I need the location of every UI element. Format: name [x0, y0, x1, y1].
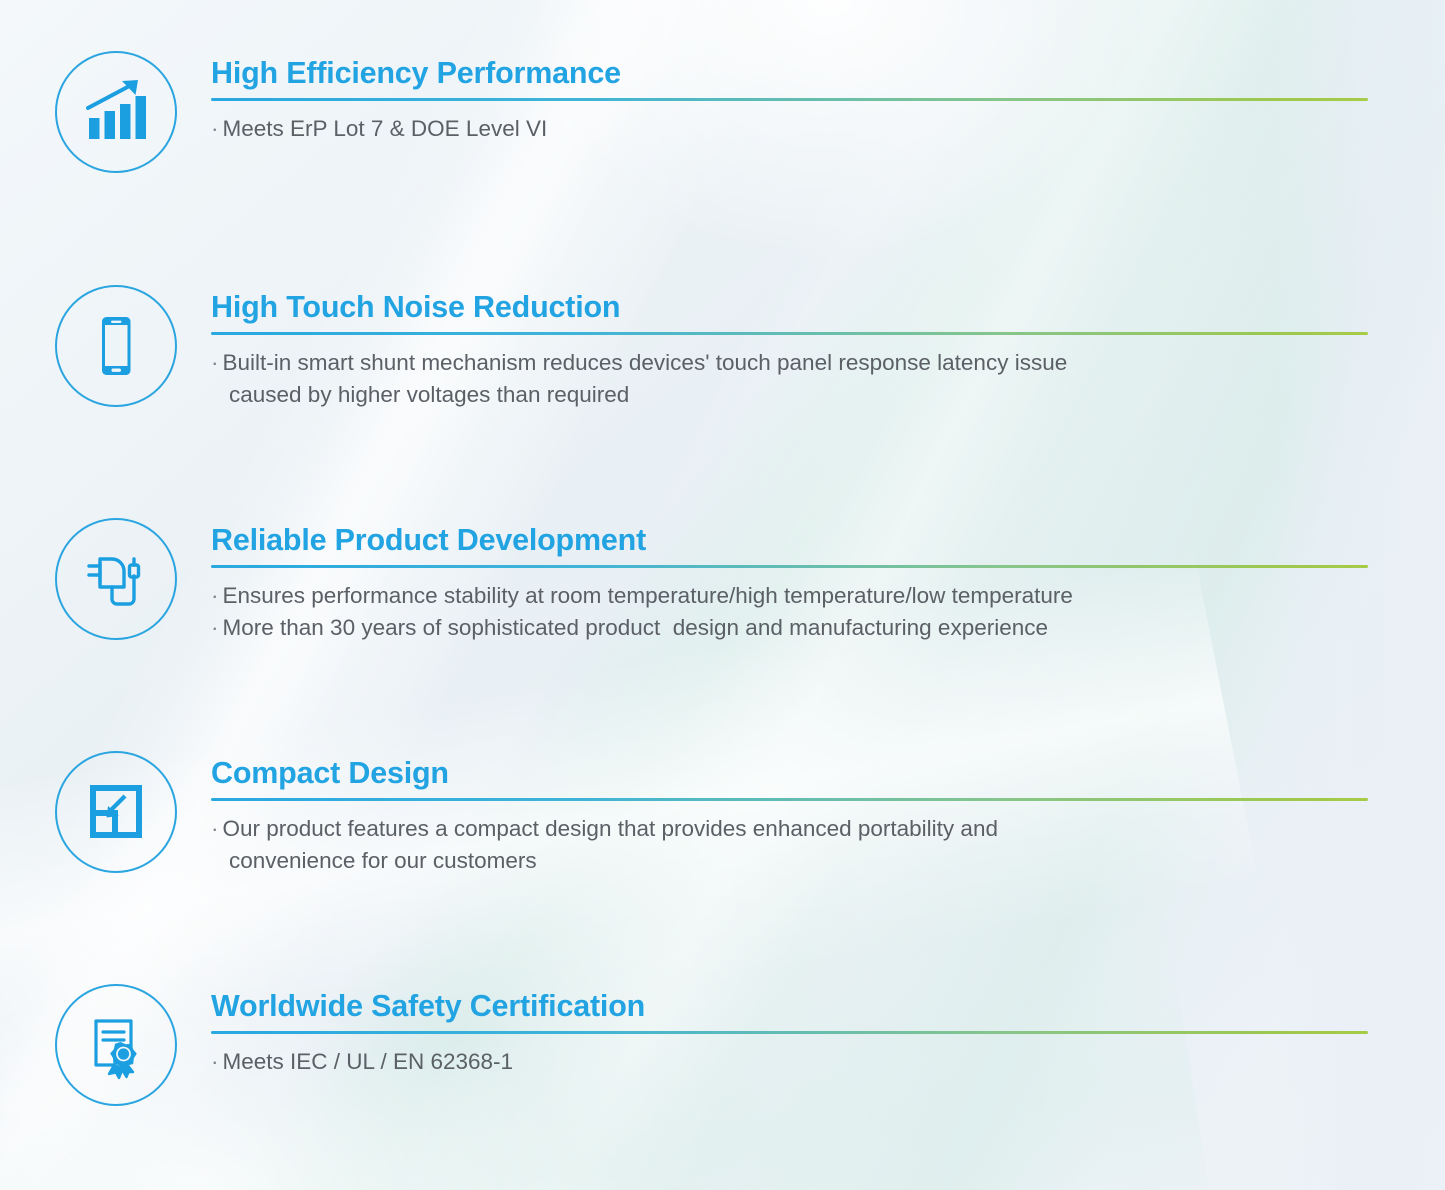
- bullet-glyph: ·: [211, 350, 219, 375]
- icon-circle-border: [55, 518, 177, 640]
- feature-icon-wrapper: [55, 984, 177, 1106]
- bar-chart-growth-icon: [79, 75, 153, 149]
- icon-circle-border: [55, 51, 177, 173]
- feature-body: ·Built-in smart shunt mechanism reduces …: [211, 347, 1371, 411]
- icon-circle-border: [55, 984, 177, 1106]
- feature-bullet-text: Meets ErP Lot 7 & DOE Level VI: [223, 116, 548, 141]
- power-adapter-icon: [79, 542, 153, 616]
- bullet-glyph: ·: [211, 583, 219, 608]
- certificate-award-icon: [79, 1008, 153, 1082]
- feature-bullet-text: Built-in smart shunt mechanism reduces d…: [223, 350, 1068, 375]
- feature-bullet-line: ·Meets ErP Lot 7 & DOE Level VI: [211, 113, 1371, 145]
- feature-bullet-text: More than 30 years of sophisticated prod…: [223, 615, 1049, 640]
- feature-icon-wrapper: [55, 518, 177, 640]
- feature-title: Compact Design: [211, 757, 1371, 789]
- bullet-glyph: ·: [211, 816, 219, 841]
- feature-divider-rule: [211, 1031, 1368, 1034]
- feature-title: High Efficiency Performance: [211, 57, 1371, 89]
- feature-divider-rule: [211, 798, 1368, 801]
- smartphone-icon: [79, 309, 153, 383]
- feature-text-column: High Efficiency Performance ·Meets ErP L…: [211, 57, 1371, 145]
- feature-bullet-line-continuation: caused by higher voltages than required: [211, 379, 1371, 411]
- feature-bullet-line: ·Our product features a compact design t…: [211, 813, 1371, 845]
- feature-bullet-line: ·Built-in smart shunt mechanism reduces …: [211, 347, 1371, 379]
- feature-highlights-page: High Efficiency Performance ·Meets ErP L…: [0, 0, 1445, 1190]
- feature-title: Worldwide Safety Certification: [211, 990, 1371, 1022]
- feature-bullet-line: ·Ensures performance stability at room t…: [211, 580, 1371, 612]
- feature-text-column: Compact Design ·Our product features a c…: [211, 757, 1371, 877]
- feature-divider-rule: [211, 565, 1368, 568]
- feature-icon-wrapper: [55, 285, 177, 407]
- feature-bullet-line: ·Meets IEC / UL / EN 62368-1: [211, 1046, 1371, 1078]
- bullet-glyph: ·: [211, 1049, 219, 1074]
- bullet-glyph: ·: [211, 116, 219, 141]
- feature-body: ·Meets ErP Lot 7 & DOE Level VI: [211, 113, 1371, 145]
- feature-body: ·Ensures performance stability at room t…: [211, 580, 1371, 644]
- feature-bullet-text: Our product features a compact design th…: [223, 816, 998, 841]
- feature-title: Reliable Product Development: [211, 524, 1371, 556]
- feature-bullet-text: Ensures performance stability at room te…: [223, 583, 1073, 608]
- feature-bullet-line-continuation: convenience for our customers: [211, 845, 1371, 877]
- feature-icon-wrapper: [55, 751, 177, 873]
- icon-circle-border: [55, 751, 177, 873]
- compact-resize-icon: [79, 775, 153, 849]
- feature-bullet-text: caused by higher voltages than required: [229, 382, 629, 407]
- feature-text-column: Worldwide Safety Certification ·Meets IE…: [211, 990, 1371, 1078]
- feature-bullet-line: ·More than 30 years of sophisticated pro…: [211, 612, 1371, 644]
- bullet-glyph: ·: [211, 615, 219, 640]
- feature-bullet-text: Meets IEC / UL / EN 62368-1: [223, 1049, 514, 1074]
- feature-text-column: Reliable Product Development ·Ensures pe…: [211, 524, 1371, 644]
- feature-divider-rule: [211, 332, 1368, 335]
- feature-text-column: High Touch Noise Reduction ·Built-in sma…: [211, 291, 1371, 411]
- icon-circle-border: [55, 285, 177, 407]
- feature-body: ·Our product features a compact design t…: [211, 813, 1371, 877]
- feature-title: High Touch Noise Reduction: [211, 291, 1371, 323]
- feature-bullet-text: convenience for our customers: [229, 848, 537, 873]
- feature-body: ·Meets IEC / UL / EN 62368-1: [211, 1046, 1371, 1078]
- feature-icon-wrapper: [55, 51, 177, 173]
- feature-divider-rule: [211, 98, 1368, 101]
